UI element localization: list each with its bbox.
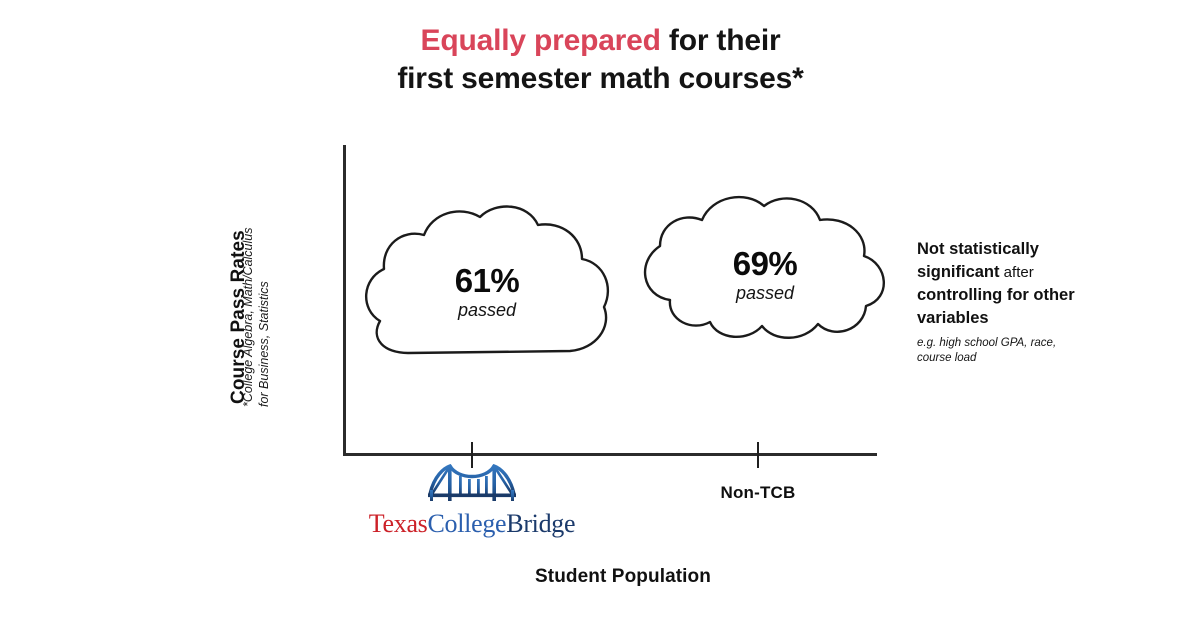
page-title: Equally prepared for their first semeste… — [0, 22, 1201, 98]
y-axis-line — [343, 145, 346, 456]
title-line-2: first semester math courses* — [0, 60, 1201, 98]
significance-annotation: Not statistically significant after cont… — [917, 238, 1077, 365]
cloud-shape-tcb: 61% passed — [356, 203, 618, 365]
annotation-bold-2: controlling for other variables — [917, 286, 1075, 327]
y-axis-note: *College Algebra, Math/Calculus for Busi… — [240, 228, 272, 408]
cloud-caption-tcb: passed — [356, 299, 618, 321]
cloud-label-tcb: 61% passed — [356, 263, 618, 321]
x-tick-nontcb — [757, 442, 759, 468]
logo-word-college: College — [428, 509, 507, 538]
annotation-light-1: after — [1000, 264, 1034, 281]
cloud-shape-nontcb: 69% passed — [634, 190, 896, 352]
title-accent: Equally prepared — [421, 24, 661, 57]
x-axis-line — [343, 453, 877, 456]
annotation-main: Not statistically significant after cont… — [917, 238, 1077, 329]
cloud-value-nontcb: 69% — [634, 246, 896, 282]
title-line-1: Equally prepared for their — [0, 22, 1201, 60]
y-axis-note-line-2: for Business, Statistics — [256, 228, 272, 408]
title-rest: for their — [661, 24, 781, 57]
logo-wordmark: TexasCollegeBridge — [360, 509, 584, 539]
suspension-bridge-icon — [426, 460, 518, 508]
x-axis-title: Student Population — [343, 566, 903, 588]
y-axis-note-line-1: *College Algebra, Math/Calculus — [240, 228, 256, 408]
texas-college-bridge-logo: TexasCollegeBridge — [360, 460, 584, 539]
cloud-label-nontcb: 69% passed — [634, 246, 896, 304]
y-axis-note-wrap: *College Algebra, Math/Calculus for Busi… — [272, 172, 306, 407]
logo-word-bridge: Bridge — [506, 509, 575, 538]
category-label-nontcb: Non-TCB — [668, 483, 848, 503]
cloud-caption-nontcb: passed — [634, 282, 896, 304]
annotation-note: e.g. high school GPA, race, course load — [917, 336, 1077, 365]
infographic-canvas: Equally prepared for their first semeste… — [0, 0, 1201, 631]
cloud-value-tcb: 61% — [356, 263, 618, 299]
logo-word-texas: Texas — [369, 509, 428, 538]
